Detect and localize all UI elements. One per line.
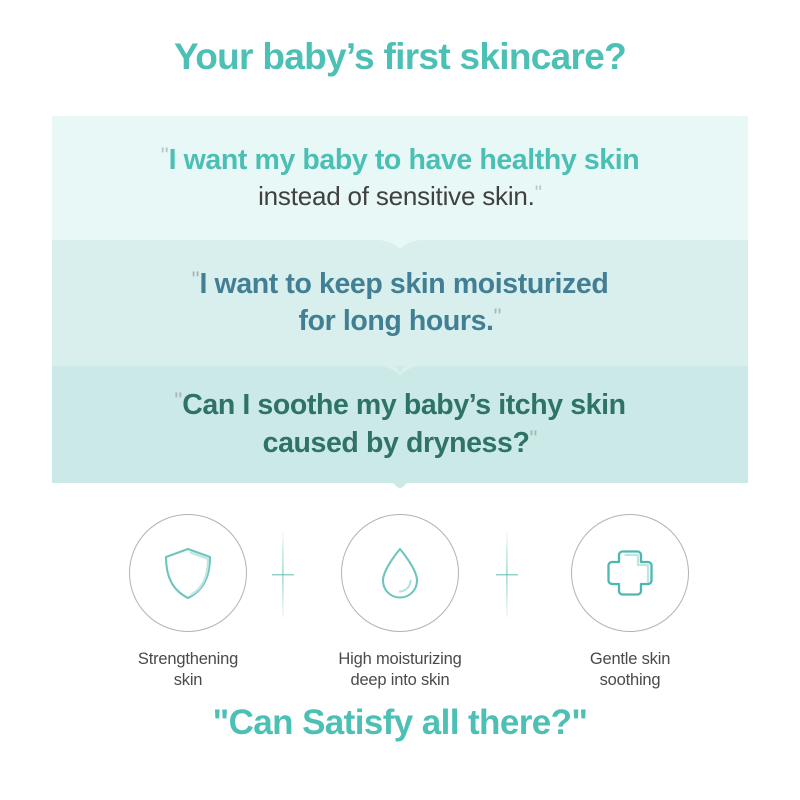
benefits-row: Strengthening skin High moisturizing dee… — [0, 514, 800, 694]
benefit-label-line-1: Strengthening — [138, 650, 238, 668]
quote-panel-3-line-1-text: Can I soothe my baby’s itchy skin — [182, 389, 625, 421]
quote-panel-2-line-1: "I want to keep skin moisturized — [192, 266, 609, 303]
quote-panel-1-line-1: "I want my baby to have healthy skin — [161, 142, 640, 179]
quote-panel-3-line-2-text: caused by dryness? — [263, 427, 530, 459]
benefit-label-strengthening-skin: Strengthening skin — [93, 649, 283, 692]
quote-panel-2-line-2: for long hours." — [299, 303, 502, 340]
benefit-item-high-moisturizing: High moisturizing deep into skin — [305, 514, 495, 692]
quote-panel-1-line-1-text: I want my baby to have healthy skin — [169, 145, 640, 177]
close-quote-mark: " — [494, 304, 502, 329]
open-quote-mark: " — [161, 143, 169, 168]
infographic-root: Your baby’s first skincare? "I want my b… — [0, 0, 800, 800]
plus-separator-icon — [268, 532, 298, 618]
quote-panel-2-line-2-text: for long hours. — [299, 305, 494, 337]
water-drop-icon — [365, 538, 435, 608]
benefit-icon-circle — [341, 514, 459, 632]
quote-panel-2: "I want to keep skin moisturized for lon… — [52, 240, 748, 366]
quote-panel-1-line-2-text: instead of sensitive skin. — [258, 181, 535, 211]
benefit-label-line-1: Gentle skin — [590, 650, 670, 668]
quote-panel-3: "Can I soothe my baby’s itchy skin cause… — [52, 366, 748, 483]
benefit-label-line-1: High moisturizing — [338, 650, 461, 668]
plus-separator-icon — [492, 532, 522, 618]
close-quote-mark: " — [535, 182, 542, 204]
benefit-label-gentle-skin-soothing: Gentle skin soothing — [535, 649, 725, 692]
open-quote-mark: " — [192, 267, 200, 292]
benefit-item-strengthening-skin: Strengthening skin — [93, 514, 283, 692]
quote-panel-2-line-1-text: I want to keep skin moisturized — [200, 268, 609, 300]
separator-horizontal-bar — [272, 574, 294, 575]
benefit-label-line-2: skin — [174, 671, 203, 689]
benefit-icon-circle — [571, 514, 689, 632]
page-title: Your baby’s first skincare? — [0, 36, 800, 78]
quote-panel-3-line-2: caused by dryness?" — [263, 425, 538, 462]
benefit-item-gentle-skin-soothing: Gentle skin soothing — [535, 514, 725, 692]
close-quote-mark: " — [529, 426, 537, 451]
quote-panel-1: "I want my baby to have healthy skin ins… — [52, 116, 748, 240]
quote-panel-stack: "I want my baby to have healthy skin ins… — [52, 116, 748, 483]
panel-notch-chevron-icon — [378, 240, 422, 253]
separator-horizontal-bar — [496, 574, 518, 575]
quote-panel-1-line-2: instead of sensitive skin." — [258, 180, 542, 214]
bottom-headline: "Can Satisfy all there?" — [0, 703, 800, 743]
benefit-icon-circle — [129, 514, 247, 632]
shield-icon — [153, 538, 223, 608]
benefit-label-high-moisturizing: High moisturizing deep into skin — [305, 649, 495, 692]
panel-notch-chevron-icon — [378, 366, 422, 379]
benefit-label-line-2: deep into skin — [350, 671, 449, 689]
medical-cross-icon — [595, 538, 665, 608]
quote-panel-3-line-1: "Can I soothe my baby’s itchy skin — [174, 387, 625, 424]
benefit-label-line-2: soothing — [600, 671, 661, 689]
panel-stack-tail-arrow-icon — [377, 483, 423, 499]
